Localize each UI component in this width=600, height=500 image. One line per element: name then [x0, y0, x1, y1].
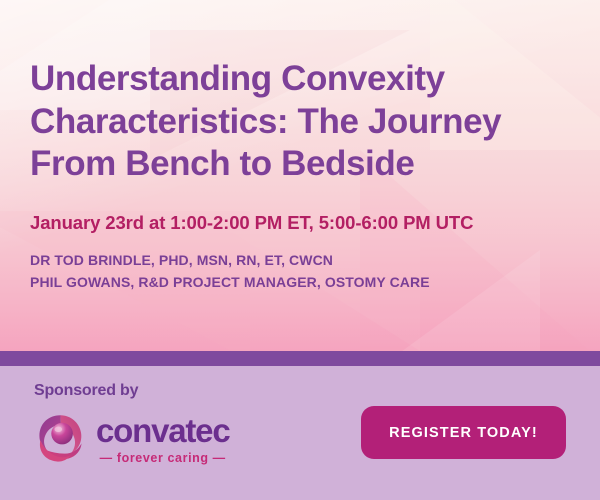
sponsored-by-label: Sponsored by	[34, 382, 229, 400]
register-today-button[interactable]: REGISTER TODAY!	[361, 406, 566, 459]
webinar-promo-banner: Understanding Convexity Characteristics:…	[0, 0, 600, 500]
webinar-datetime: January 23rd at 1:00-2:00 PM ET, 5:00-6:…	[30, 186, 570, 234]
presenter-name: PHIL GOWANS, R&D PROJECT MANAGER, OSTOMY…	[30, 272, 570, 294]
presenter-list: DR TOD BRINDLE, PHD, MSN, RN, ET, CWCN P…	[30, 234, 570, 293]
convatec-swirl-logo-icon	[34, 412, 88, 466]
hero-section: Understanding Convexity Characteristics:…	[0, 0, 600, 351]
convatec-wordmark-block: convatec — forever caring —	[96, 414, 229, 465]
hero-content: Understanding Convexity Characteristics:…	[0, 0, 600, 293]
section-divider	[0, 351, 600, 366]
convatec-tagline: — forever caring —	[96, 452, 229, 465]
presenter-name: DR TOD BRINDLE, PHD, MSN, RN, ET, CWCN	[30, 250, 570, 272]
sponsor-block: Sponsored by	[34, 382, 229, 466]
convatec-logo: convatec — forever caring —	[34, 412, 229, 466]
convatec-wordmark: convatec	[96, 414, 229, 447]
webinar-title: Understanding Convexity Characteristics:…	[30, 0, 550, 186]
footer-section: Sponsored by	[0, 366, 600, 500]
